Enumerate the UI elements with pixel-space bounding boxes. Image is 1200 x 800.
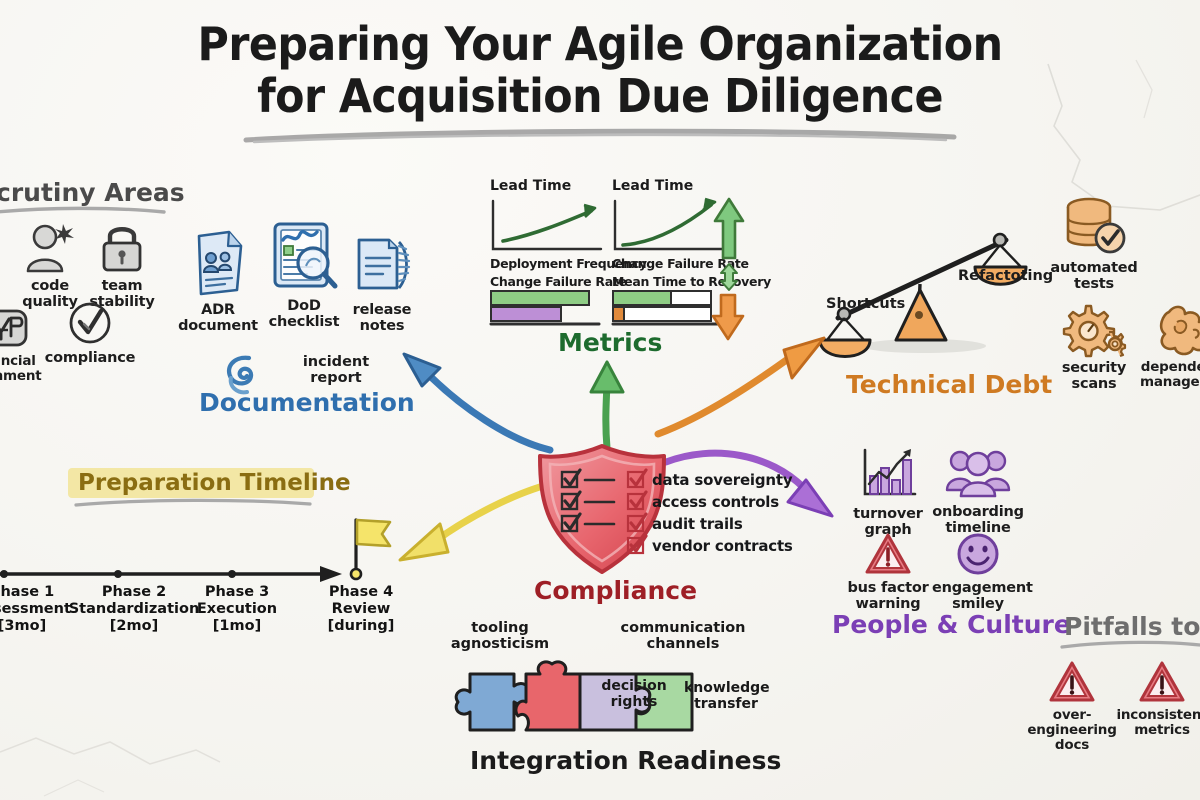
people-label-engagement-smiley: engagement smiley xyxy=(932,580,1024,612)
documentation-item-adr: ADR document xyxy=(172,226,264,334)
section-heading-metrics: Metrics xyxy=(558,328,662,357)
documentation-label-incident-report: incident report xyxy=(290,354,382,386)
scrutiny-item-compliance: compliance xyxy=(44,300,136,366)
pitfall-item-inconsistent-metrics: inconsistent metrics xyxy=(1116,660,1200,738)
people-item-engagement-smiley: engagement smiley xyxy=(932,532,1024,612)
section-heading-compliance: Compliance xyxy=(534,576,697,605)
techdebt-item-dependency-management: dependency management xyxy=(1140,302,1200,390)
title-line-1: Preparing Your Agile Organization xyxy=(42,18,1158,70)
documentation-label-release-notes: release notes xyxy=(336,302,428,334)
people-group-icon xyxy=(945,446,1011,500)
metric-label-mean-time-to-recovery: Mean Time to Recovery xyxy=(612,274,771,289)
pitfall-label-over-engineering-docs: over-engineering docs xyxy=(1026,708,1118,753)
section-heading-technical-debt: Technical Debt xyxy=(846,370,1052,399)
padlock-icon xyxy=(97,222,147,274)
timeline-phase-4: Phase 4 Review [during] xyxy=(306,584,416,635)
metric-arrow-neutral-icon xyxy=(716,262,742,292)
compliance-checklist-item-4: vendor contracts xyxy=(652,537,793,555)
check-circle-icon xyxy=(67,300,113,346)
warning-triangle-icon xyxy=(1048,660,1096,704)
scrutiny-item-financial-alignment: financial alignment xyxy=(0,306,50,384)
balance-scale-icon xyxy=(812,218,1030,358)
clipboard-magnifier-icon xyxy=(267,218,341,294)
scale-label-shortcuts: Shortcuts xyxy=(826,296,905,312)
section-heading-documentation: Documentation xyxy=(199,388,415,417)
metric-bars-left xyxy=(487,289,605,329)
integration-label-tooling-agnosticism: tooling agnosticism xyxy=(444,620,556,652)
warning-triangle-icon xyxy=(1138,660,1186,704)
metric-arrow-up-icon xyxy=(712,196,746,262)
timeline-phase-4-name: Phase 4 xyxy=(306,584,416,601)
section-heading-scrutiny-areas: Scrutiny Areas xyxy=(0,178,185,207)
person-sparkle-icon xyxy=(21,222,79,274)
timeline-heading-underline xyxy=(74,498,314,508)
database-check-icon xyxy=(1062,196,1126,256)
pitfall-item-over-engineering-docs: over-engineering docs xyxy=(1026,660,1118,753)
release-notes-icon xyxy=(349,232,415,298)
integration-label-knowledge-transfer: knowledge transfer xyxy=(684,680,768,712)
scrutiny-heading-underline xyxy=(0,206,168,216)
techdebt-label-dependency-management: dependency management xyxy=(1140,360,1200,390)
timeline-flag-icon xyxy=(348,512,396,578)
section-heading-preparation-timeline: Preparation Timeline xyxy=(78,470,351,496)
scrutiny-item-team-stability: team stability xyxy=(76,222,168,310)
people-item-onboarding-timeline: onboarding timeline xyxy=(932,446,1024,536)
documentation-item-release-notes: release notes xyxy=(336,232,428,334)
metric-chart-1 xyxy=(487,197,607,257)
scale-label-refactoting: Refactoting xyxy=(958,268,1053,284)
integration-label-communication-channels: communication channels xyxy=(616,620,750,652)
metric-chart-title-2: Lead Time xyxy=(612,178,693,194)
paper-crease-bottom-left xyxy=(0,700,220,800)
pitfall-label-inconsistent-metrics: inconsistent metrics xyxy=(1116,708,1200,738)
timeline-phase-3-duration: [1mo] xyxy=(178,618,296,635)
people-label-bus-factor-warning: bus factor warning xyxy=(842,580,934,612)
pitfalls-heading-underline xyxy=(1060,640,1200,650)
scrutiny-label-compliance: compliance xyxy=(44,350,136,366)
techdebt-label-automated-tests: automated tests xyxy=(1048,260,1140,292)
timeline-phase-3-name: Phase 3 xyxy=(178,584,296,601)
metric-chart-title-1: Lead Time xyxy=(490,178,571,194)
title-underline xyxy=(240,128,960,144)
connector-to-metrics xyxy=(582,360,632,452)
section-heading-people-culture: People & Culture xyxy=(832,610,1071,639)
techdebt-label-security-scans: security scans xyxy=(1048,360,1140,392)
documentation-label-adr: ADR document xyxy=(172,302,264,334)
scrutiny-label-financial-alignment: financial alignment xyxy=(0,354,50,384)
dependency-puzzle-icon xyxy=(1155,302,1200,356)
people-item-turnover-graph: turnover graph xyxy=(842,446,934,538)
techdebt-item-automated-tests: automated tests xyxy=(1048,196,1140,292)
document-people-icon xyxy=(187,226,249,298)
compliance-checklist-item-2: access controls xyxy=(652,493,779,511)
gears-icon xyxy=(1063,302,1125,356)
timeline-phase-4-duration: [during] xyxy=(306,618,416,635)
people-item-bus-factor-warning: bus factor warning xyxy=(842,532,934,612)
compliance-checklist-item-1: data sovereignty xyxy=(652,471,792,489)
bar-chart-trend-icon xyxy=(857,446,919,502)
smiley-icon xyxy=(955,532,1001,576)
compliance-checklist-item-3: audit trails xyxy=(652,515,743,533)
page-title: Preparing Your Agile Organization for Ac… xyxy=(0,18,1200,144)
metric-chart-2 xyxy=(609,197,729,257)
techdebt-item-security-scans: security scans xyxy=(1048,302,1140,392)
connector-to-technical-debt xyxy=(652,330,832,440)
section-heading-pitfalls: Pitfalls to Avoid xyxy=(1064,612,1200,641)
timeline-axis xyxy=(0,556,370,586)
timeline-phase-3: Phase 3 Execution [1mo] xyxy=(178,584,296,635)
section-heading-integration-readiness: Integration Readiness xyxy=(470,746,781,775)
timeline-phase-3-title: Execution xyxy=(178,601,296,618)
title-line-2: for Acquisition Due Diligence xyxy=(42,70,1158,122)
compliance-checklist-boxes-right xyxy=(624,468,654,560)
metric-label-change-failure-rate-left: Change Failure Rate xyxy=(490,274,627,289)
integration-label-decision-rights: decision rights xyxy=(596,678,672,710)
infographic-canvas: Preparing Your Agile Organization for Ac… xyxy=(0,0,1200,800)
timeline-phase-4-title: Review xyxy=(306,601,416,618)
warning-triangle-icon xyxy=(864,532,912,576)
money-coin-icon xyxy=(0,306,31,350)
